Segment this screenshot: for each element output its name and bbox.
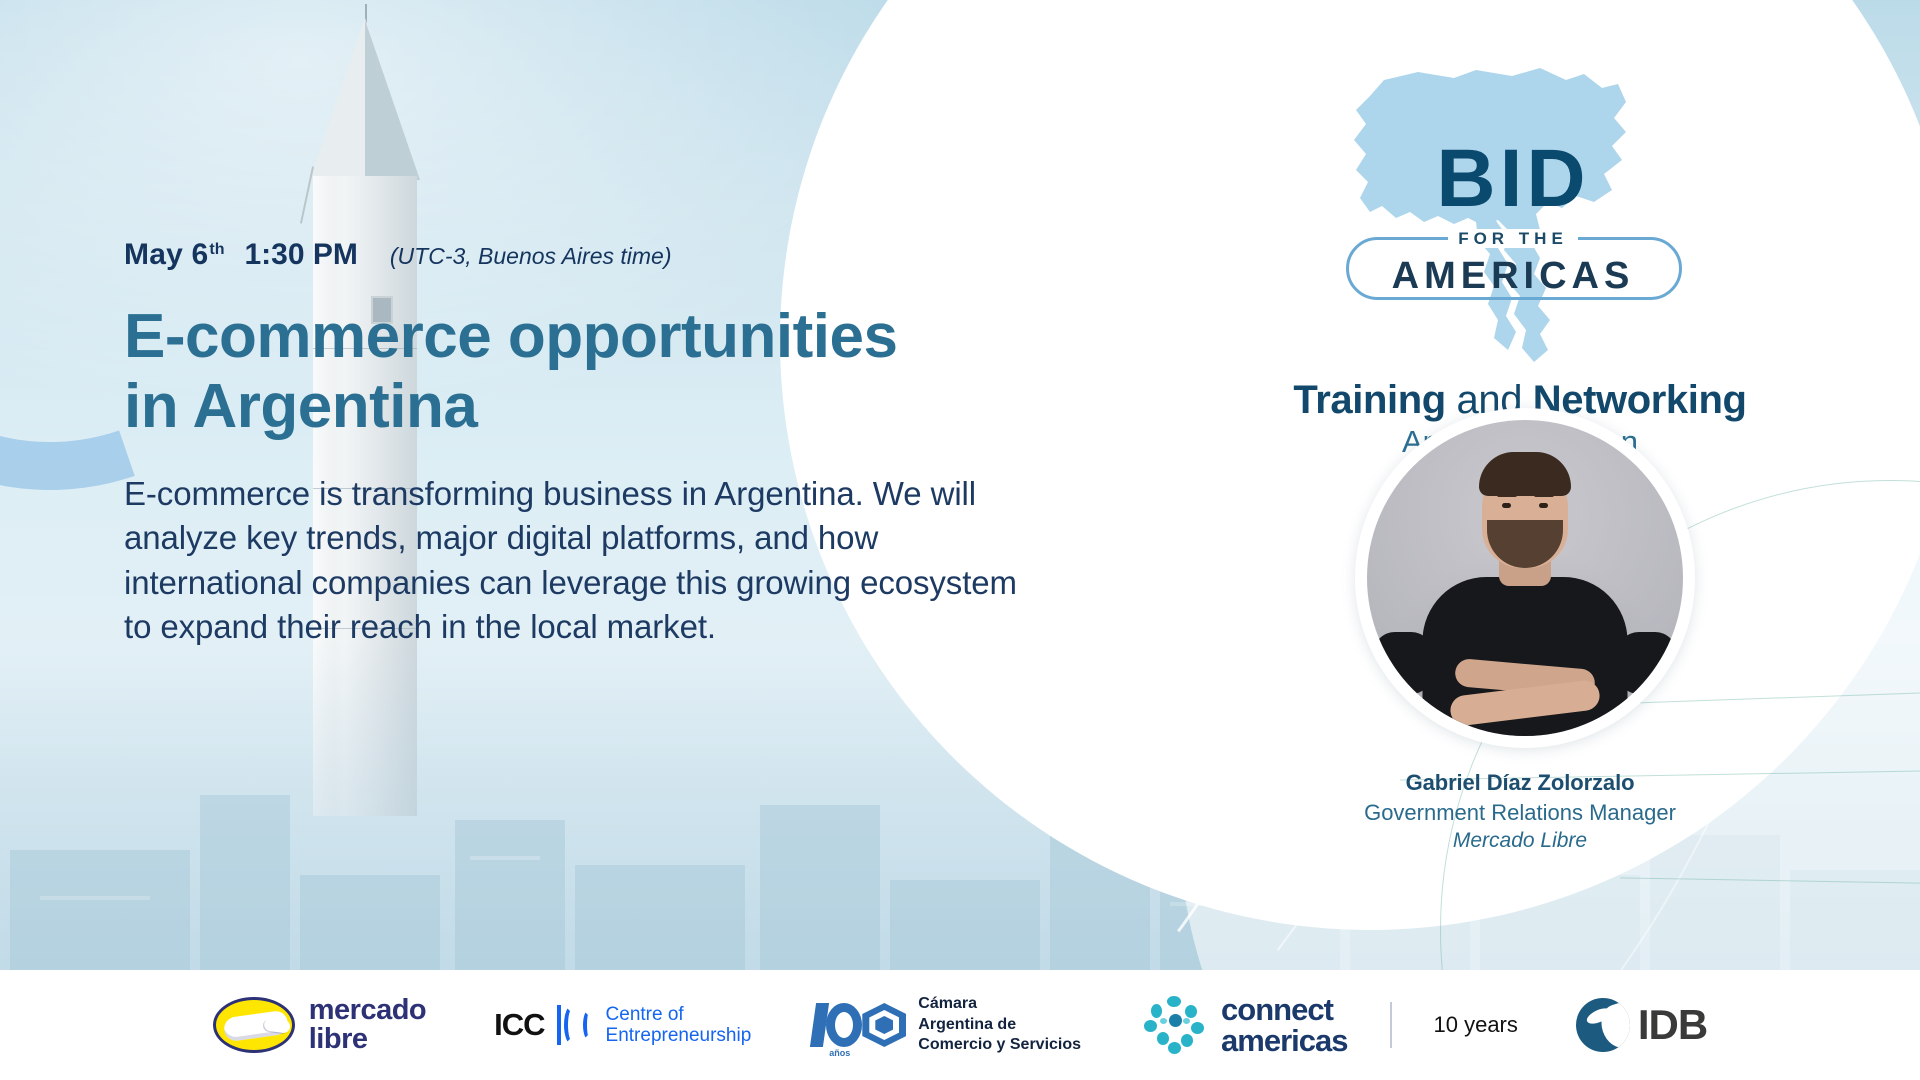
event-time: 1:30 PM [245,238,358,272]
event-banner: May 6th 1:30 PM (UTC-3, Buenos Aires tim… [0,0,1920,1080]
network-globe-icon [1143,994,1205,1056]
title-line-2: in Argentina [124,372,477,441]
icc-subtitle: Centre of Entrepreneurship [606,1004,752,1047]
divider [1390,1002,1392,1048]
cac-100-anos-icon: años [813,1003,906,1047]
bid-for-the-americas-logo: BID FOR THE AMERICAS [1298,62,1728,362]
idb-mark-icon [1576,998,1630,1052]
event-details: May 6th 1:30 PM (UTC-3, Buenos Aires tim… [124,238,1084,649]
event-description: E-commerce is transforming business in A… [124,472,1024,649]
mercado-libre-wordmark: mercado libre [309,996,426,1054]
mercado-libre-line-2: libre [309,1025,426,1054]
bid-for-the-label: FOR THE [1298,229,1728,249]
cac-wordmark: Cámara Argentina de Comercio y Servicios [918,994,1081,1056]
logo-camara-argentina-comercio-servicios: años Cámara Argentina de Comercio y Serv… [813,994,1081,1056]
icc-subtitle-line-2: Entrepreneurship [606,1025,752,1046]
handshake-icon [213,997,295,1053]
icc-subtitle-line-1: Centre of [606,1004,752,1025]
page-title: E-commerce opportunities in Argentina [124,302,1084,442]
speaker-name: Gabriel Díaz Zolorzalo [1120,770,1920,796]
idb-wordmark: IDB [1638,1001,1707,1049]
logo-connect-americas: connect americas 10 years [1143,994,1576,1056]
event-date-superscript: th [209,241,224,259]
bid-wordmark: BID [1298,140,1728,218]
brand-column: BID FOR THE AMERICAS Training and Networ… [1120,0,1920,970]
cac-line-1: Cámara [918,994,1081,1015]
cac-line-2: Argentina de [918,1015,1081,1036]
connect-americas-wordmark: connect americas [1221,994,1347,1056]
connect-line-2: americas [1221,1025,1347,1056]
avatar [1355,408,1695,748]
speaker-organization: Mercado Libre [1120,829,1920,853]
mercado-libre-line-1: mercado [309,996,426,1025]
speaker-role: Government Relations Manager [1120,800,1920,826]
connect-line-1: connect [1221,994,1347,1025]
speaker-credit: Gabriel Díaz Zolorzalo Government Relati… [1120,770,1920,853]
event-datetime: May 6th 1:30 PM (UTC-3, Buenos Aires tim… [124,238,1084,272]
sponsor-logo-bar: mercado libre ICC Centre of Entrepreneur… [0,970,1920,1080]
bid-americas-label: AMERICAS [1298,255,1728,298]
connect-americas-years: 10 years [1434,1012,1518,1038]
icc-wordmark: ICC [494,1007,544,1043]
cac-anos-label: años [829,1048,850,1058]
logo-icc-centre-of-entrepreneurship: ICC Centre of Entrepreneurship [494,1004,751,1047]
cac-line-3: Comercio y Servicios [918,1035,1081,1056]
logo-mercado-libre: mercado libre [213,996,426,1054]
event-date: May 6 [124,238,208,272]
event-timezone: (UTC-3, Buenos Aires time) [390,243,672,270]
icc-mark-icon [557,1005,594,1045]
program-training: Training [1293,378,1445,422]
logo-idb: IDB [1576,998,1707,1052]
speaker-photo [1367,420,1683,736]
title-line-1: E-commerce opportunities [124,302,897,371]
